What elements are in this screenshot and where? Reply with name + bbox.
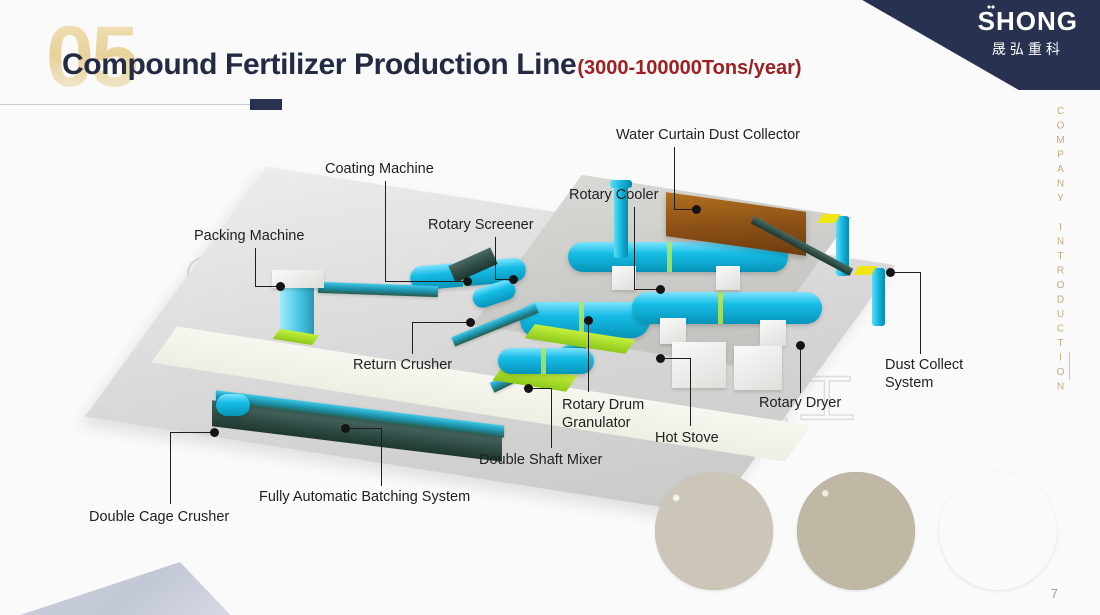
cooler-support-1: [612, 266, 636, 290]
label-rotary-screener: Rotary Screener: [428, 217, 534, 235]
product-sample-2: [797, 472, 915, 590]
dot-water-curtain-dust-collector: [692, 205, 701, 214]
label-packing-machine: Packing Machine: [194, 228, 304, 246]
label-coating-machine: Coating Machine: [325, 161, 434, 179]
dot-fully-automatic-batching-system: [341, 424, 350, 433]
leader-packing-machine: [255, 248, 256, 286]
leader-dust-collect-system-h: [893, 272, 921, 273]
dot-rotary-cooler: [656, 285, 665, 294]
cooler-support-2: [716, 266, 740, 290]
dot-hot-stove: [656, 354, 665, 363]
logo-chinese: 晟弘重科: [978, 39, 1078, 59]
label-double-shaft-mixer: Double Shaft Mixer: [479, 452, 602, 470]
dot-rotary-dryer: [796, 341, 805, 350]
double-shaft-mixer-unit: [498, 348, 594, 374]
logo-s-mark: S: [978, 8, 996, 34]
title-rule: [0, 104, 268, 105]
dot-double-shaft-mixer: [524, 384, 533, 393]
leader-hot-stove: [690, 358, 691, 426]
page-title-subtitle: (3000-100000Tons/year): [577, 57, 801, 80]
leader-batching-system-h: [348, 428, 382, 429]
double-cage-crusher-unit: [216, 394, 250, 416]
leader-double-cage-crusher: [170, 432, 171, 504]
logo-wordmark: SHONG: [978, 8, 1078, 34]
leader-dust-collect-system: [920, 272, 921, 354]
leader-rotary-screener: [495, 237, 496, 279]
title-dash-accent: [250, 99, 282, 110]
leader-coating-machine-h: [385, 281, 467, 282]
leader-double-shaft-mixer-h: [531, 388, 552, 389]
hot-stove-cabinet: [672, 342, 726, 388]
product-samples: [655, 472, 1057, 590]
label-fully-automatic-batching-system: Fully Automatic Batching System: [259, 489, 470, 507]
dot-rotary-drum-granulator: [584, 316, 593, 325]
page-title-main: Compound Fertilizer Production Line: [62, 48, 576, 82]
dot-coating-machine: [463, 277, 472, 286]
label-rotary-dryer: Rotary Dryer: [759, 395, 841, 413]
dust-collect-system-stack-2: [872, 268, 885, 326]
granule-image-1: [655, 472, 773, 590]
product-sample-1: [655, 472, 773, 590]
leader-double-shaft-mixer: [551, 388, 552, 448]
label-hot-stove: Hot Stove: [655, 430, 719, 448]
page-number: 7: [1051, 586, 1058, 601]
product-sample-3: [939, 472, 1057, 590]
leader-rotary-cooler: [634, 207, 635, 289]
leader-return-crusher-h: [412, 322, 470, 323]
company-logo: SHONG 晟弘重科: [978, 8, 1078, 59]
corner-decoration: [0, 535, 240, 615]
side-rail-label: COMPANY INTRODUCTION: [1051, 106, 1070, 396]
dryer-support-2: [760, 320, 786, 346]
granule-image-2: [797, 472, 915, 590]
label-return-crusher: Return Crusher: [353, 357, 452, 375]
logo-name: HONG: [996, 6, 1078, 36]
leader-water-curtain: [674, 147, 675, 209]
dot-dust-collect-system: [886, 268, 895, 277]
side-rail: COMPANY INTRODUCTION: [1051, 96, 1070, 396]
dot-double-cage-crusher: [210, 428, 219, 437]
dryer-support-1: [660, 318, 686, 344]
leader-return-crusher: [412, 322, 413, 354]
slide-root: SHONG 晟弘重科 05 Compound Fertilizer Produc…: [0, 0, 1100, 615]
side-rail-tick-bottom: [1069, 352, 1070, 380]
leader-hot-stove-h: [663, 358, 691, 359]
dot-rotary-screener: [509, 275, 518, 284]
leader-batching-system: [381, 428, 382, 486]
label-double-cage-crusher: Double Cage Crusher: [89, 509, 229, 527]
granule-image-3: [939, 472, 1057, 590]
leader-rotary-dryer: [800, 345, 801, 393]
leader-double-cage-crusher-h: [170, 432, 214, 433]
label-rotary-cooler: Rotary Cooler: [569, 187, 658, 205]
label-dust-collect-system: Dust Collect System: [885, 357, 985, 393]
side-rail-bottom: [1069, 352, 1070, 380]
leader-rotary-drum-granulator: [588, 320, 589, 392]
dot-packing-machine: [276, 282, 285, 291]
label-rotary-drum-granulator: Rotary Drum Granulator: [562, 397, 658, 433]
leader-coating-machine: [385, 181, 386, 281]
label-water-curtain-dust-collector: Water Curtain Dust Collector: [616, 127, 800, 145]
page-title: Compound Fertilizer Production Line (300…: [62, 48, 802, 82]
dot-return-crusher: [466, 318, 475, 327]
hot-stove-cabinet-2: [734, 346, 782, 390]
